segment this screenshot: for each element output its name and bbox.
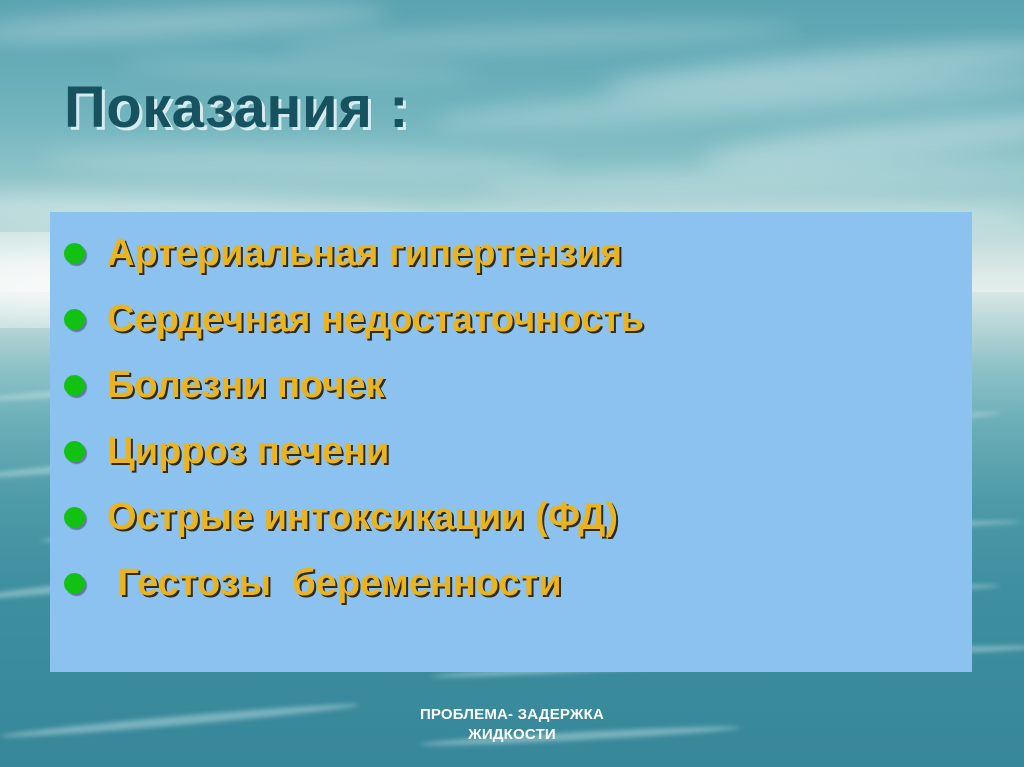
slide-title: Показания :	[64, 74, 409, 141]
footer-line-2: ЖИДКОСТИ	[0, 725, 1024, 745]
cloud-streak-icon	[280, 19, 800, 57]
cloud-streak-icon	[0, 0, 390, 47]
cloud-streak-icon	[699, 99, 1024, 181]
cloud-streak-icon	[430, 64, 1024, 139]
bullet-dot-icon	[64, 243, 85, 264]
footer-line-1: ПРОБЛЕМА- ЗАДЕРЖКА	[0, 705, 1024, 725]
list-item: Гестозы беременности	[64, 550, 644, 616]
list-item-label: Болезни почек	[107, 366, 385, 404]
list-item-label: Острые интоксикации (ФД)	[107, 498, 618, 536]
list-item: Артериальная гипертензия	[64, 220, 644, 286]
list-item: Цирроз печени	[64, 418, 644, 484]
list-item-label: Сердечная недостаточность	[107, 300, 644, 338]
list-item-label: Гестозы беременности	[107, 564, 562, 602]
bullet-dot-icon	[64, 309, 85, 330]
list-item: Острые интоксикации (ФД)	[64, 484, 644, 550]
cloud-streak-icon	[599, 32, 1024, 107]
list-item: Сердечная недостаточность	[64, 286, 644, 352]
indications-list: Артериальная гипертензия Сердечная недос…	[64, 220, 644, 616]
cloud-streak-icon	[40, 145, 560, 182]
bullet-dot-icon	[64, 573, 85, 594]
bullet-dot-icon	[64, 375, 85, 396]
list-item-label: Артериальная гипертензия	[107, 234, 622, 272]
presentation-slide: Показания : Артериальная гипертензия Сер…	[0, 0, 1024, 767]
list-item: Болезни почек	[64, 352, 644, 418]
list-item-label: Цирроз печени	[107, 432, 389, 470]
bullet-dot-icon	[64, 441, 85, 462]
content-panel: Артериальная гипертензия Сердечная недос…	[50, 212, 972, 672]
slide-footer: ПРОБЛЕМА- ЗАДЕРЖКА ЖИДКОСТИ	[0, 705, 1024, 746]
cloud-streak-icon	[480, 156, 1024, 203]
bullet-dot-icon	[64, 507, 85, 528]
